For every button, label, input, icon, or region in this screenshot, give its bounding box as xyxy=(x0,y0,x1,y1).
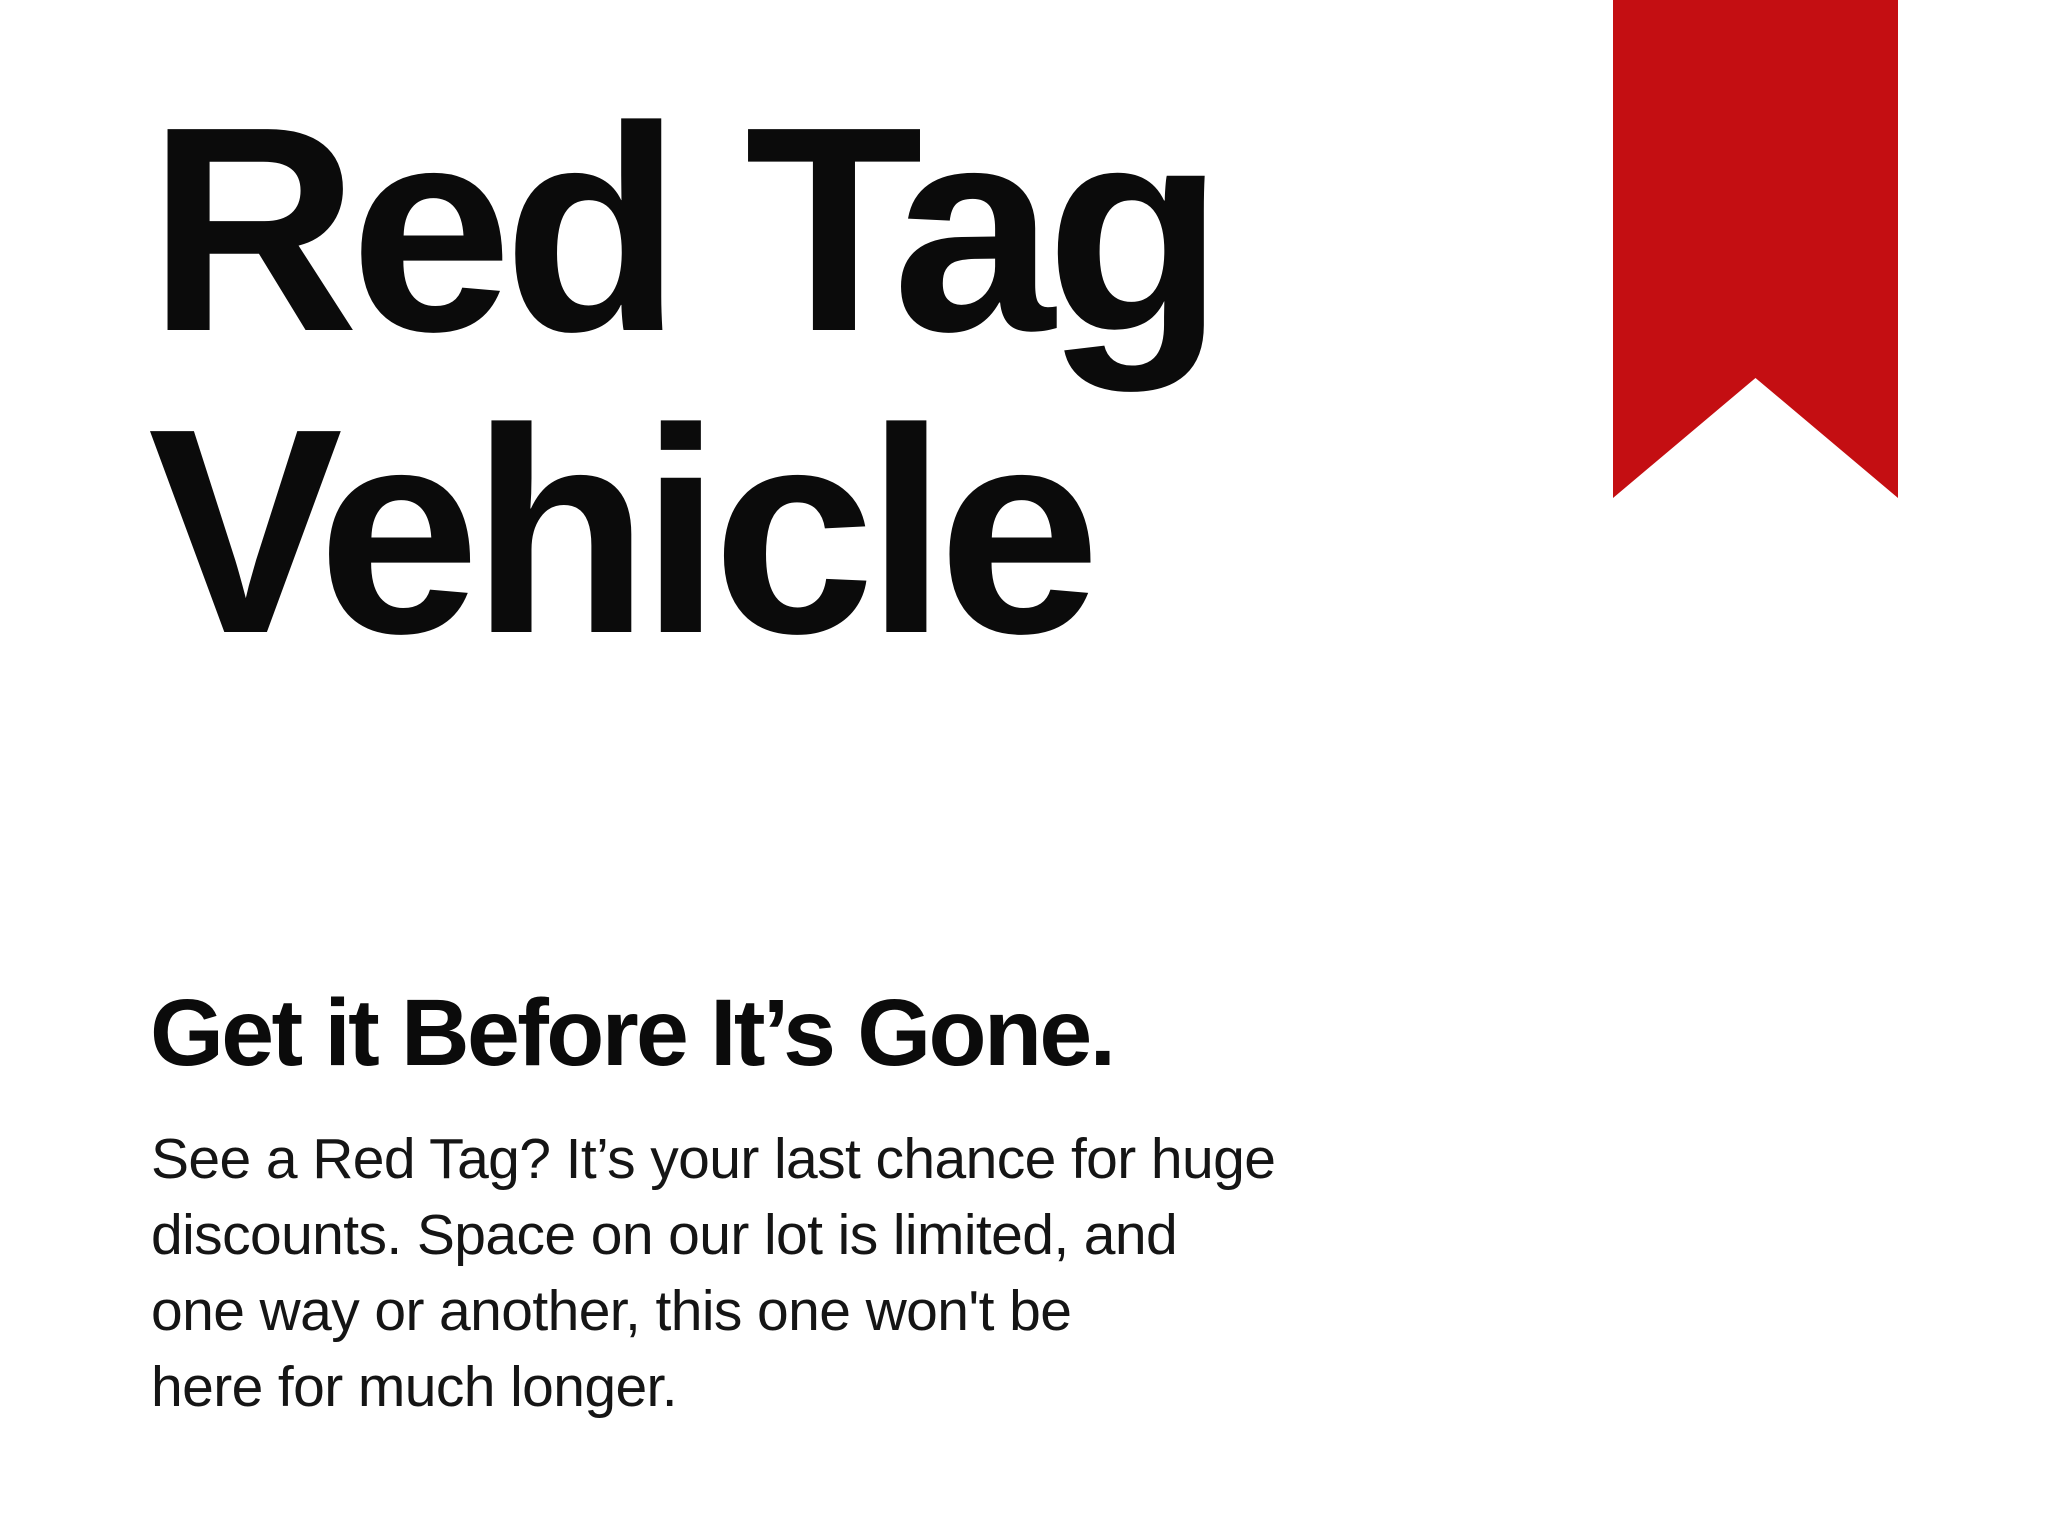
red-tag-promo-poster: Red Tag Vehicle Get it Before It’s Gone.… xyxy=(0,0,2048,1536)
promo-body-text: See a Red Tag? It’s your last chance for… xyxy=(151,1121,1275,1425)
red-tag-ribbon-icon xyxy=(1613,0,1898,498)
page-title: Red Tag Vehicle xyxy=(148,78,1215,682)
promo-subheadline: Get it Before It’s Gone. xyxy=(150,983,1113,1083)
